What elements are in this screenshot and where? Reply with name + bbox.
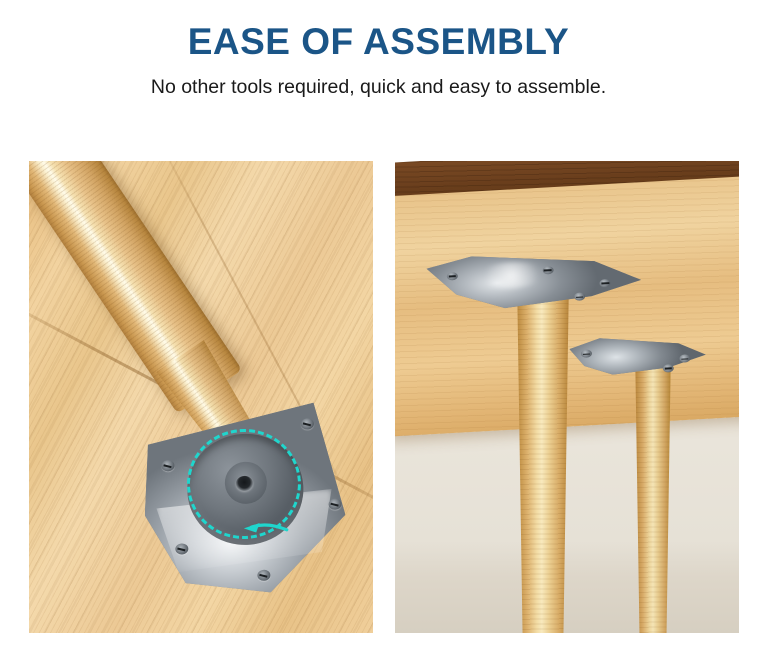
photo-installed-legs [395, 161, 739, 633]
photo-leg-and-plate [29, 161, 373, 633]
header: EASE OF ASSEMBLY No other tools required… [0, 0, 757, 100]
page-title: EASE OF ASSEMBLY [0, 20, 757, 64]
floor-band [395, 541, 739, 633]
photo-gallery [0, 161, 757, 633]
screw-icon [574, 293, 585, 302]
screw-icon [679, 355, 690, 364]
back-mounting-plate [566, 329, 708, 378]
page-subtitle: No other tools required, quick and easy … [0, 74, 757, 100]
front-mounting-plate [424, 241, 645, 314]
front-leg [513, 289, 573, 633]
screw-icon [663, 364, 674, 373]
metal-mounting-plate [138, 397, 351, 600]
screw-icon [542, 266, 553, 275]
